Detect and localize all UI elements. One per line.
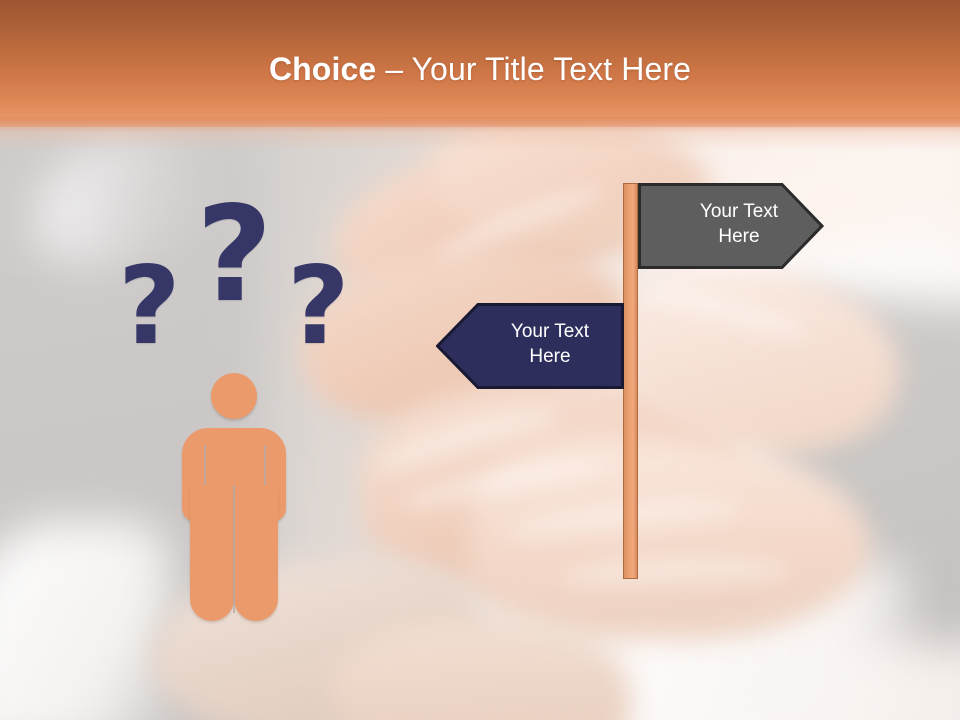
header-fade: [0, 117, 960, 151]
sign-navy-label: Your Text Here: [511, 319, 589, 369]
question-mark-center-icon: ?: [196, 189, 273, 321]
page-title: Choice – Your Title Text Here: [0, 51, 960, 88]
page-title-rest: – Your Title Text Here: [376, 51, 691, 87]
sign-navy[interactable]: Your Text Here: [436, 303, 624, 389]
question-mark-left-icon: ?: [118, 253, 181, 361]
person-left-leg: [190, 485, 234, 621]
page-title-strong: Choice: [269, 51, 376, 87]
sign-gray-label: Your Text Here: [700, 199, 778, 249]
slide-canvas: Choice – Your Title Text Here ? ? ? Your…: [0, 0, 960, 720]
signpost-pole: [623, 183, 638, 579]
sign-gray[interactable]: Your Text Here: [638, 183, 824, 269]
person-head: [211, 373, 257, 419]
question-mark-right-icon: ?: [287, 253, 350, 361]
background-left-white-glow: [0, 520, 170, 720]
person-right-leg: [234, 485, 278, 621]
person-leg-gap: [233, 485, 235, 613]
person-pictogram-icon: [174, 373, 294, 623]
